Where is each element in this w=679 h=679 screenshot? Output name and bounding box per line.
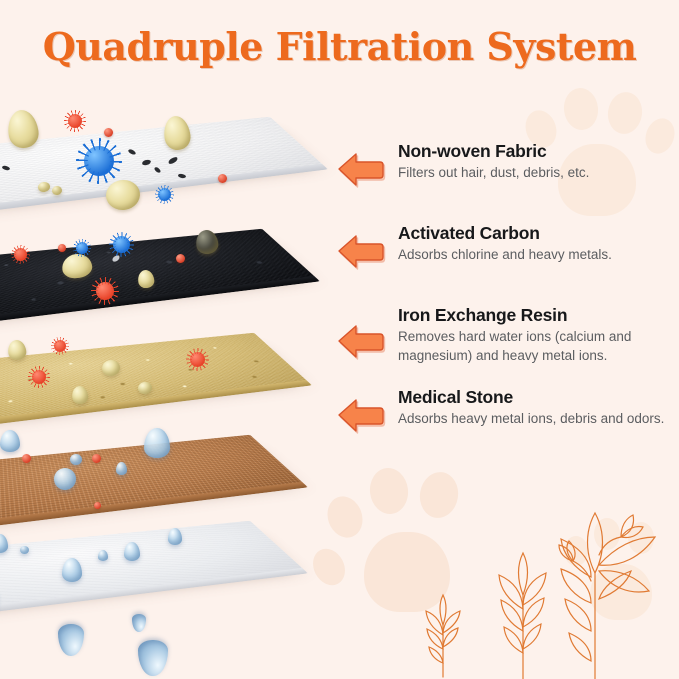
virus-particle — [68, 114, 82, 128]
left-arrow-icon — [336, 230, 388, 270]
feature-row-iron-exchange-resin: Iron Exchange Resin Removes hard water i… — [336, 304, 679, 386]
falling-water-droplet — [58, 624, 84, 656]
botanical-sprig-medium — [499, 553, 546, 679]
feature-row-non-woven-fabric: Non-woven Fabric Filters out hair, dust,… — [336, 140, 679, 222]
feature-description: Adsorbs heavy metal ions, debris and odo… — [398, 410, 679, 429]
feature-description: Filters out hair, dust, debris, etc. — [398, 164, 679, 183]
feature-row-medical-stone: Medical Stone Adsorbs heavy metal ions, … — [336, 386, 679, 468]
falling-water-droplet — [138, 640, 168, 676]
botanical-sprig-large — [559, 513, 655, 679]
feature-heading: Non-woven Fabric — [398, 140, 679, 162]
non-woven-fabric-layer — [0, 96, 308, 214]
filter-layer-stack — [0, 96, 358, 616]
feature-heading: Medical Stone — [398, 386, 679, 408]
feature-text-block: Non-woven Fabric Filters out hair, dust,… — [398, 140, 679, 183]
paw-print-watermark-bottom-right — [560, 516, 679, 626]
page-title: Quadruple Filtration System — [0, 24, 679, 69]
water-droplet — [0, 430, 20, 452]
feature-description: Adsorbs chlorine and heavy metals. — [398, 246, 679, 265]
feature-heading: Iron Exchange Resin — [398, 304, 679, 326]
feature-text-block: Medical Stone Adsorbs heavy metal ions, … — [398, 386, 679, 429]
ion-exchange-resin-layer — [0, 312, 292, 430]
base-fabric-layer — [0, 500, 288, 618]
botanical-sprig-small — [426, 595, 460, 677]
infographic-canvas: Quadruple Filtration System — [0, 0, 679, 679]
feature-heading: Activated Carbon — [398, 222, 679, 244]
left-arrow-icon — [336, 320, 388, 360]
feature-row-activated-carbon: Activated Carbon Adsorbs chlorine and he… — [336, 222, 679, 304]
activated-carbon-layer — [0, 208, 300, 326]
left-arrow-icon — [336, 148, 388, 188]
feature-text-block: Activated Carbon Adsorbs chlorine and he… — [398, 222, 679, 265]
feature-text-block: Iron Exchange Resin Removes hard water i… — [398, 304, 679, 365]
feature-description: Removes hard water ions (calcium and mag… — [398, 328, 679, 365]
botanical-decoration-group — [413, 499, 673, 679]
feature-list: Non-woven Fabric Filters out hair, dust,… — [336, 140, 679, 468]
virus-particle — [54, 340, 66, 352]
left-arrow-icon — [336, 394, 388, 434]
